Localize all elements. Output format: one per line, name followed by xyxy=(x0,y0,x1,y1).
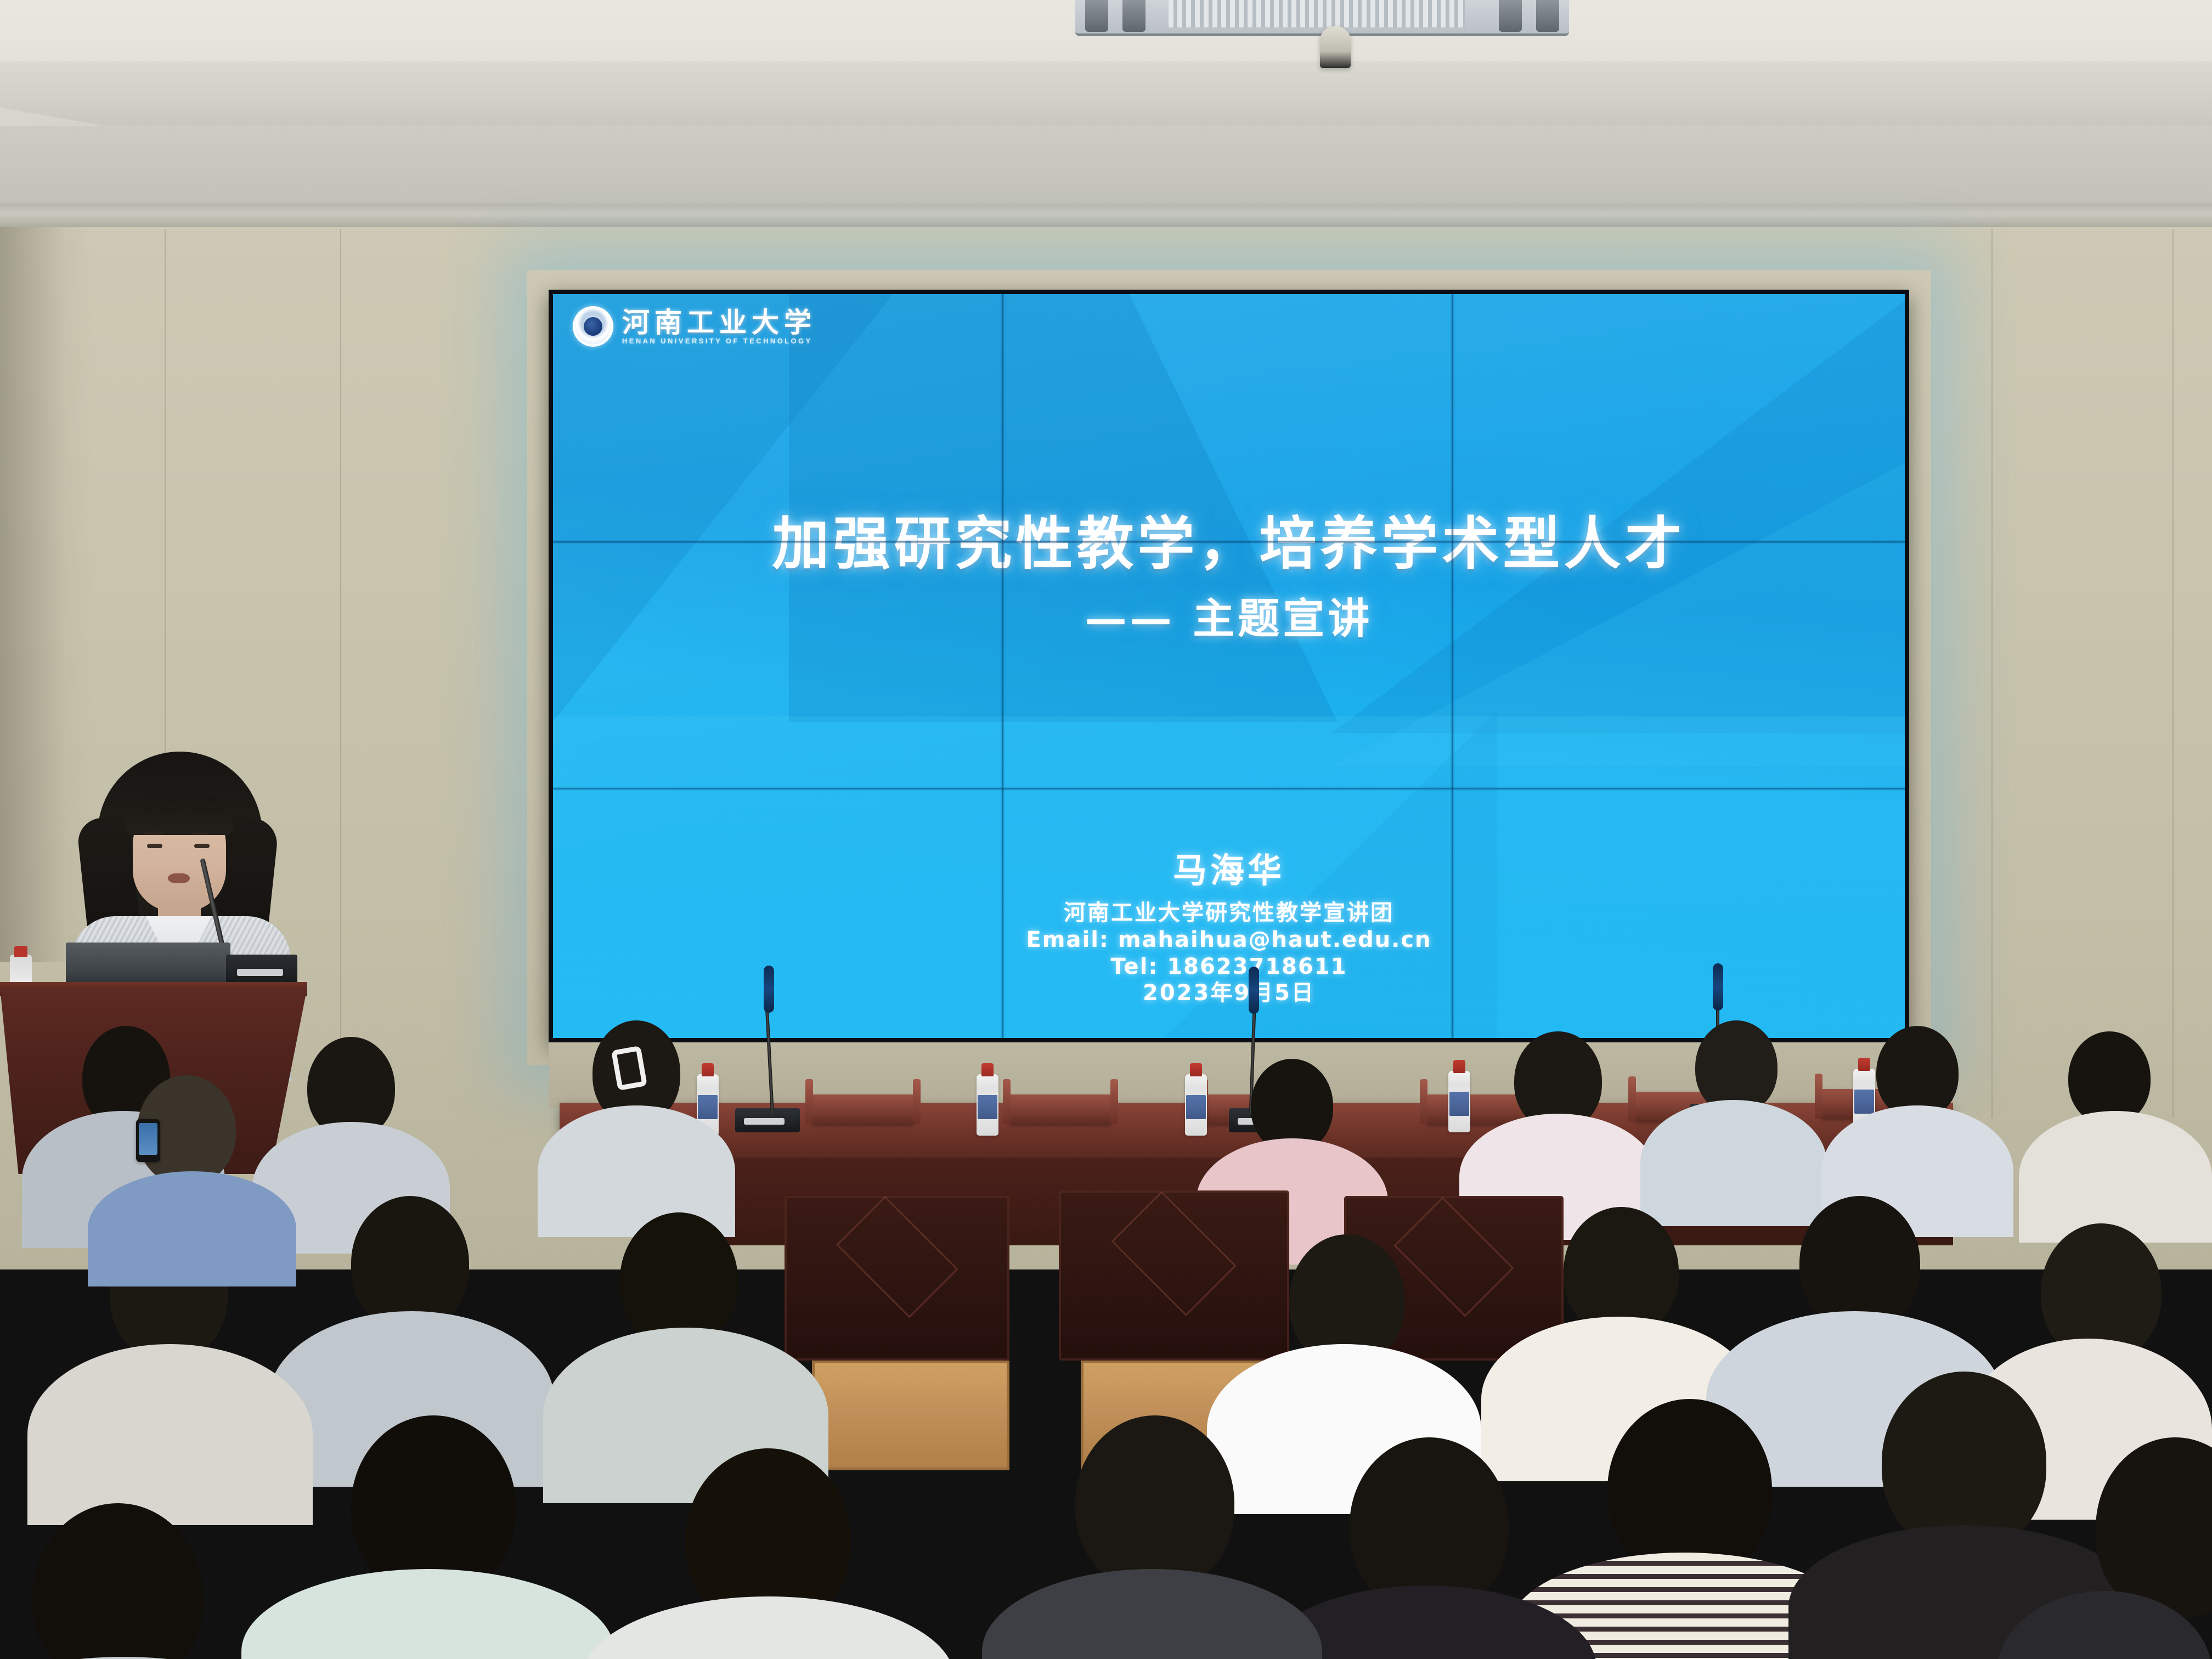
university-crest-icon xyxy=(573,306,613,347)
presenter-mouth xyxy=(168,873,190,883)
video-wall-seam xyxy=(553,541,1905,543)
auditorium-seat[interactable] xyxy=(1059,1190,1289,1361)
wall-panel-seam xyxy=(340,229,341,1118)
audience-head xyxy=(351,1196,469,1330)
audience-head xyxy=(1799,1196,1920,1330)
lecture-hall-scene: 河南工业大学 HENAN UNIVERSITY OF TECHNOLOGY 加强… xyxy=(0,0,2212,1659)
video-wall-display: 河南工业大学 HENAN UNIVERSITY OF TECHNOLOGY 加强… xyxy=(553,294,1905,1038)
university-name-en: HENAN UNIVERSITY OF TECHNOLOGY xyxy=(622,337,816,345)
presenter-eyebrow xyxy=(145,832,163,835)
presenter-bangs xyxy=(125,792,234,835)
presenter-affiliation: 河南工业大学研究性教学宣讲团 xyxy=(1064,901,1394,926)
audience-torso xyxy=(88,1171,296,1286)
presenter-name: 马海华 xyxy=(553,843,1905,892)
ceiling-sensor-icon xyxy=(1320,26,1351,68)
slide-subtitle: —— 主题宣讲 xyxy=(553,585,1905,645)
university-logo: 河南工业大学 HENAN UNIVERSITY OF TECHNOLOGY xyxy=(573,306,816,347)
wall-panel-seam xyxy=(1991,229,1993,1118)
audience-seating xyxy=(0,1031,2212,1659)
presentation-slide: 河南工业大学 HENAN UNIVERSITY OF TECHNOLOGY 加强… xyxy=(553,294,1905,1038)
video-wall-seam xyxy=(1002,294,1003,1038)
audience-torso xyxy=(1640,1100,1827,1226)
microphone-head-icon xyxy=(1249,967,1259,1014)
presenter-eye xyxy=(147,844,162,848)
audience-torso xyxy=(982,1569,1322,1659)
audience-torso xyxy=(582,1596,955,1659)
video-wall-seam xyxy=(553,788,1905,789)
wall-cornice xyxy=(0,204,2212,229)
audience-torso xyxy=(538,1105,735,1237)
microphone-head-icon xyxy=(1713,963,1723,1011)
seat-wood-panel xyxy=(812,1361,1009,1470)
auditorium-seat[interactable] xyxy=(785,1196,1009,1361)
presenter-eye xyxy=(194,844,210,848)
presentation-date: 2023年9月5日 xyxy=(1143,981,1315,1006)
led-video-wall[interactable]: 河南工业大学 HENAN UNIVERSITY OF TECHNOLOGY 加强… xyxy=(549,290,1909,1042)
audience-torso xyxy=(2019,1111,2212,1243)
presenter-contact-block: 河南工业大学研究性教学宣讲团 Email: mahaihua@haut.edu.… xyxy=(553,901,1905,1006)
wall-panel-seam xyxy=(2172,229,2174,1118)
audience-head xyxy=(620,1212,738,1347)
presenter-email: Email: mahaihua@haut.edu.cn xyxy=(1026,928,1431,952)
ceiling-inner-soffit xyxy=(0,126,2212,208)
audience-head xyxy=(1075,1415,1234,1591)
presenter-phone: Tel: 18623718611 xyxy=(1111,955,1347,979)
audience-torso xyxy=(241,1569,614,1659)
microphone-head-icon xyxy=(764,966,774,1013)
smartphone-camera-icon[interactable] xyxy=(136,1119,160,1162)
audience-head xyxy=(33,1503,203,1659)
presenter-laptop[interactable] xyxy=(66,943,230,985)
audience-torso xyxy=(27,1344,313,1525)
video-wall-seam xyxy=(1452,294,1453,1038)
air-vent-grille-icon xyxy=(1169,0,1465,27)
slide-title: 加强研究性教学，培养学术型人才 xyxy=(553,497,1905,580)
university-name-cn: 河南工业大学 xyxy=(622,309,816,336)
presenter-eyebrow xyxy=(191,832,210,835)
